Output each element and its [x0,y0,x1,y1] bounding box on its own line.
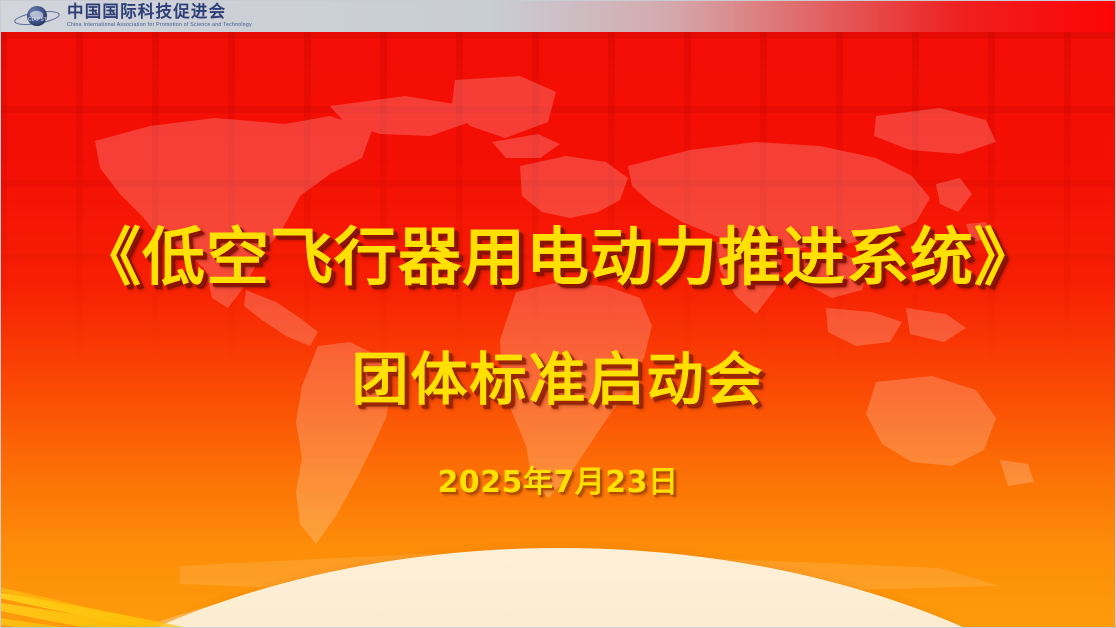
organization-name-en: China International Association for Prom… [67,20,252,28]
header-bar: CIAPST 中国国际科技促进会 China International Ass… [0,0,1116,32]
poster-subtitle: 团体标准启动会 [0,334,1116,416]
organization-name-cn: 中国国际科技促进会 [67,4,252,21]
header-branding: CIAPST 中国国际科技促进会 China International Ass… [0,4,252,29]
presentation-slide: CIAPST 中国国际科技促进会 China International Ass… [0,0,1116,628]
poster-date: 2025年7月23日 [0,457,1116,501]
poster-background: 《低空飞行器用电动力推进系统》 团体标准启动会 2025年7月23日 [0,32,1116,628]
globe-icon [27,6,47,26]
globe-orbit-logo-icon: CIAPST [13,4,61,28]
poster-text-layer: 《低空飞行器用电动力推进系统》 团体标准启动会 2025年7月23日 [0,32,1116,628]
poster-title: 《低空飞行器用电动力推进系统》 [0,207,1116,298]
organization-name-block: 中国国际科技促进会 China International Associatio… [67,4,252,29]
logo-tag-text: CIAPST [28,17,47,23]
